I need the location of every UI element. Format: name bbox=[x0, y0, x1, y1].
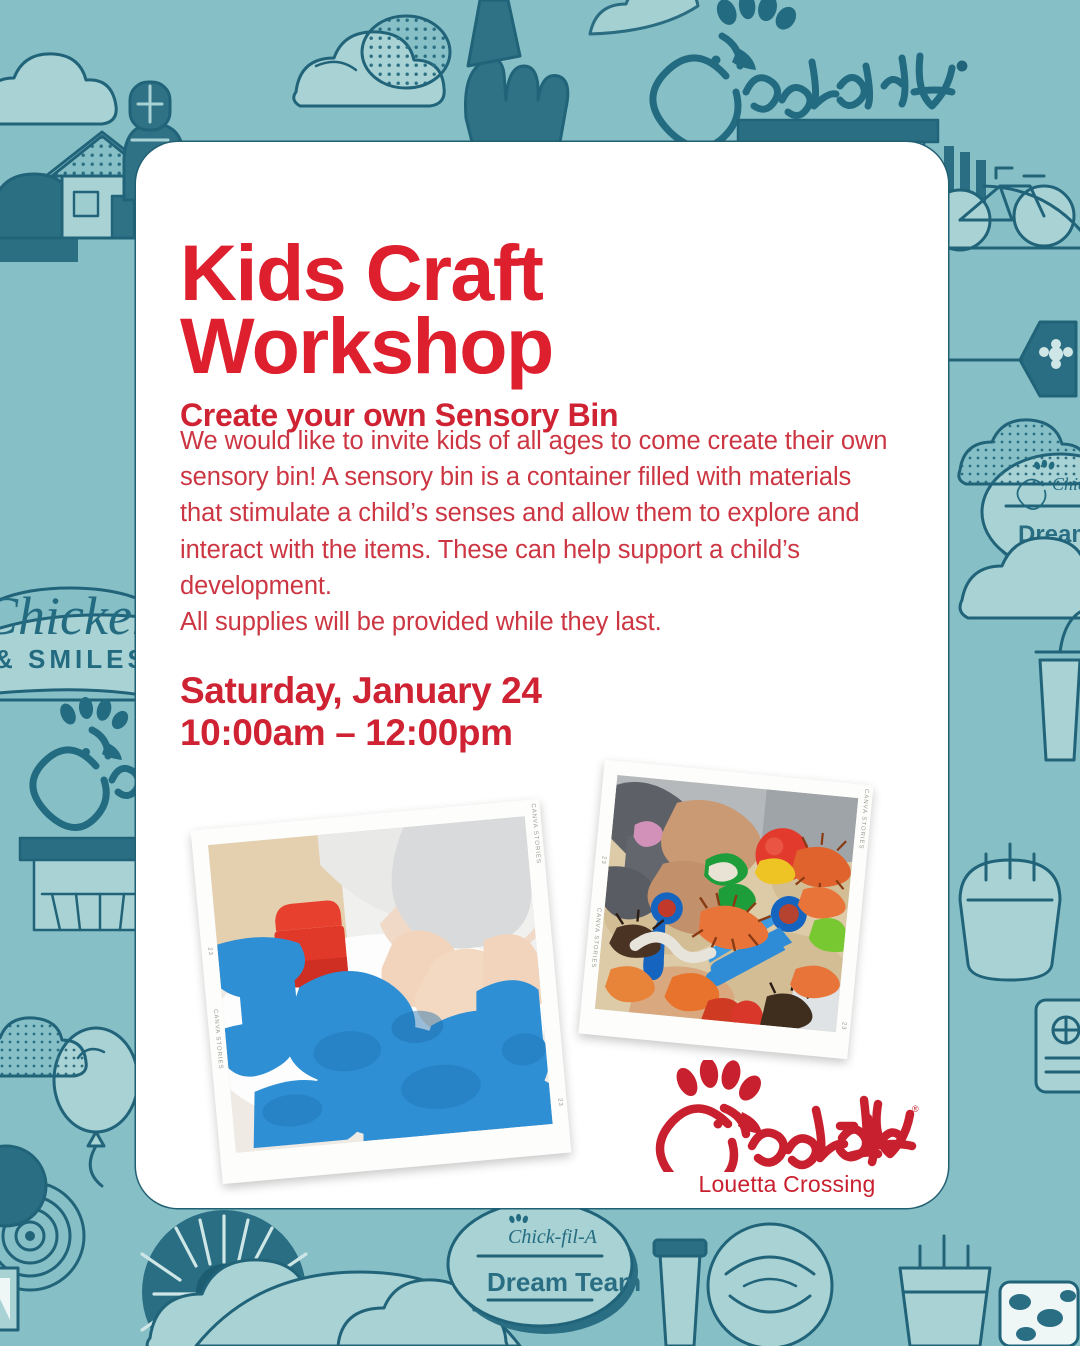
frame-number: 23 bbox=[600, 856, 607, 865]
svg-text:Chick-fil-A: Chick-fil-A bbox=[508, 1226, 598, 1248]
poster: ® bbox=[0, 0, 1080, 1346]
film-label: CANVA STORIES bbox=[530, 803, 541, 864]
frame-number: 23 bbox=[840, 1022, 847, 1031]
photo-blue-kinetic-sand: CANVA STORIES 23 CANVA STORIES 23 bbox=[191, 799, 572, 1184]
svg-text:®: ® bbox=[958, 61, 966, 73]
photo-image bbox=[595, 775, 858, 1032]
svg-text:& SMILES: & SMILES bbox=[0, 644, 149, 674]
flag-icon bbox=[0, 1268, 18, 1340]
film-label: CANVA STORIES bbox=[857, 789, 869, 850]
photo-image bbox=[208, 816, 553, 1153]
logo-location: Louetta Crossing bbox=[652, 1171, 922, 1198]
content-card: Kids Craft Workshop Create your own Sens… bbox=[136, 142, 948, 1208]
chicken-sandwich-icon bbox=[708, 1224, 832, 1346]
photo-rice-sensory-bin: CANVA STORIES 23 CANVA STORIES 23 bbox=[578, 760, 873, 1060]
chick-fil-a-logo: ® Louetta Crossing bbox=[652, 1060, 922, 1198]
chick-fil-a-logo-icon: ® bbox=[654, 1060, 920, 1172]
mobile-app-icon bbox=[1036, 1000, 1080, 1092]
registered-mark: ® bbox=[912, 1104, 919, 1114]
event-time: 10:00am – 12:00pm bbox=[180, 712, 880, 754]
frame-number: 23 bbox=[206, 947, 213, 956]
body-copy: We would like to invite kids of all ages… bbox=[180, 423, 898, 640]
film-label: CANVA STORIES bbox=[212, 1009, 223, 1070]
event-date: Saturday, January 24 bbox=[180, 670, 880, 712]
title-line-2: Workshop bbox=[180, 310, 880, 383]
event-datetime: Saturday, January 24 10:00am – 12:00pm bbox=[180, 670, 880, 754]
frame-number: 23 bbox=[556, 1098, 563, 1107]
dotted-cloud-icon bbox=[362, 16, 450, 88]
cow-icon bbox=[1000, 1282, 1078, 1346]
svg-text:Dream Team: Dream Team bbox=[487, 1267, 641, 1297]
body-paragraph-1: We would like to invite kids of all ages… bbox=[180, 423, 898, 604]
body-paragraph-2: All supplies will be provided while they… bbox=[180, 604, 898, 640]
page-title: Kids Craft Workshop bbox=[180, 237, 880, 382]
